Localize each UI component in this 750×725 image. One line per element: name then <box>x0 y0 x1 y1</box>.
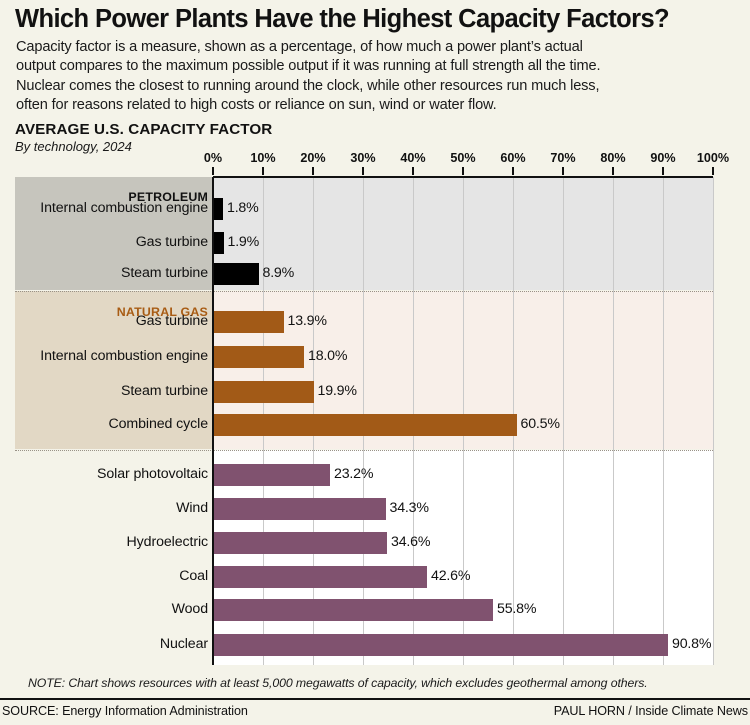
row-label: Steam turbine <box>0 265 208 281</box>
bar <box>214 532 387 554</box>
x-tick-mark-70% <box>562 167 564 175</box>
bar <box>214 498 386 520</box>
bar-value-label: 23.2% <box>334 466 373 482</box>
chart-source: SOURCE: Energy Information Administratio… <box>2 704 248 718</box>
x-tick-label-90%: 90% <box>640 151 686 165</box>
bar-value-label: 34.6% <box>391 534 430 550</box>
band-separator-1 <box>15 291 713 293</box>
bar-value-label: 60.5% <box>521 416 560 432</box>
x-tick-label-20%: 20% <box>290 151 336 165</box>
row-label: Wood <box>0 601 208 617</box>
row-label: Coal <box>0 568 208 584</box>
x-tick-mark-100% <box>712 167 714 175</box>
bar-value-label: 34.3% <box>390 500 429 516</box>
x-tick-mark-90% <box>662 167 664 175</box>
x-tick-label-70%: 70% <box>540 151 586 165</box>
x-axis-line <box>213 176 713 178</box>
row-label: Wind <box>0 500 208 516</box>
row-label: Steam turbine <box>0 383 208 399</box>
bar-value-label: 42.6% <box>431 568 470 584</box>
band-separator-2 <box>15 450 713 452</box>
x-tick-label-40%: 40% <box>390 151 436 165</box>
footer-divider <box>0 698 750 700</box>
chart-note: NOTE: Chart shows resources with at leas… <box>28 676 648 690</box>
x-tick-mark-80% <box>612 167 614 175</box>
row-label: Gas turbine <box>0 234 208 250</box>
bar <box>214 346 304 368</box>
x-tick-mark-0% <box>212 167 214 175</box>
x-tick-label-60%: 60% <box>490 151 536 165</box>
x-tick-label-50%: 50% <box>440 151 486 165</box>
row-label: Hydroelectric <box>0 534 208 550</box>
row-label: Gas turbine <box>0 313 208 329</box>
x-tick-mark-30% <box>362 167 364 175</box>
row-label: Internal combustion engine <box>0 348 208 364</box>
row-label: Solar photovoltaic <box>0 466 208 482</box>
bar-value-label: 19.9% <box>318 383 357 399</box>
chart-band-other <box>15 450 713 665</box>
x-tick-label-0%: 0% <box>190 151 236 165</box>
bar <box>214 198 223 220</box>
gridline-100% <box>713 177 714 665</box>
bar <box>214 634 668 656</box>
bar <box>214 566 427 588</box>
chart-credit: PAUL HORN / Inside Climate News <box>554 704 748 718</box>
x-tick-label-10%: 10% <box>240 151 286 165</box>
capacity-factor-bar-chart: 0%10%20%30%40%50%60%70%80%90%100% PETROL… <box>0 0 750 725</box>
bar-value-label: 18.0% <box>308 348 347 364</box>
x-tick-mark-40% <box>412 167 414 175</box>
bar-value-label: 55.8% <box>497 601 536 617</box>
x-tick-mark-50% <box>462 167 464 175</box>
x-tick-label-100%: 100% <box>690 151 736 165</box>
bar <box>214 232 224 254</box>
bar-value-label: 8.9% <box>263 265 295 281</box>
bar <box>214 311 284 333</box>
band-label-background <box>15 450 213 665</box>
bar <box>214 263 259 285</box>
bar-value-label: 1.9% <box>228 234 260 250</box>
bar-value-label: 1.8% <box>227 200 259 216</box>
x-tick-mark-60% <box>512 167 514 175</box>
bar-value-label: 13.9% <box>288 313 327 329</box>
bar <box>214 414 517 436</box>
x-tick-label-30%: 30% <box>340 151 386 165</box>
gridline-90% <box>663 177 664 665</box>
bar <box>214 599 493 621</box>
gridline-70% <box>563 177 564 665</box>
bar-value-label: 90.8% <box>672 636 711 652</box>
bar <box>214 464 330 486</box>
row-label: Combined cycle <box>0 416 208 432</box>
x-tick-mark-20% <box>312 167 314 175</box>
gridline-80% <box>613 177 614 665</box>
row-label: Internal combustion engine <box>0 200 208 216</box>
x-tick-label-80%: 80% <box>590 151 636 165</box>
bar <box>214 381 314 403</box>
row-label: Nuclear <box>0 636 208 652</box>
x-tick-mark-10% <box>262 167 264 175</box>
